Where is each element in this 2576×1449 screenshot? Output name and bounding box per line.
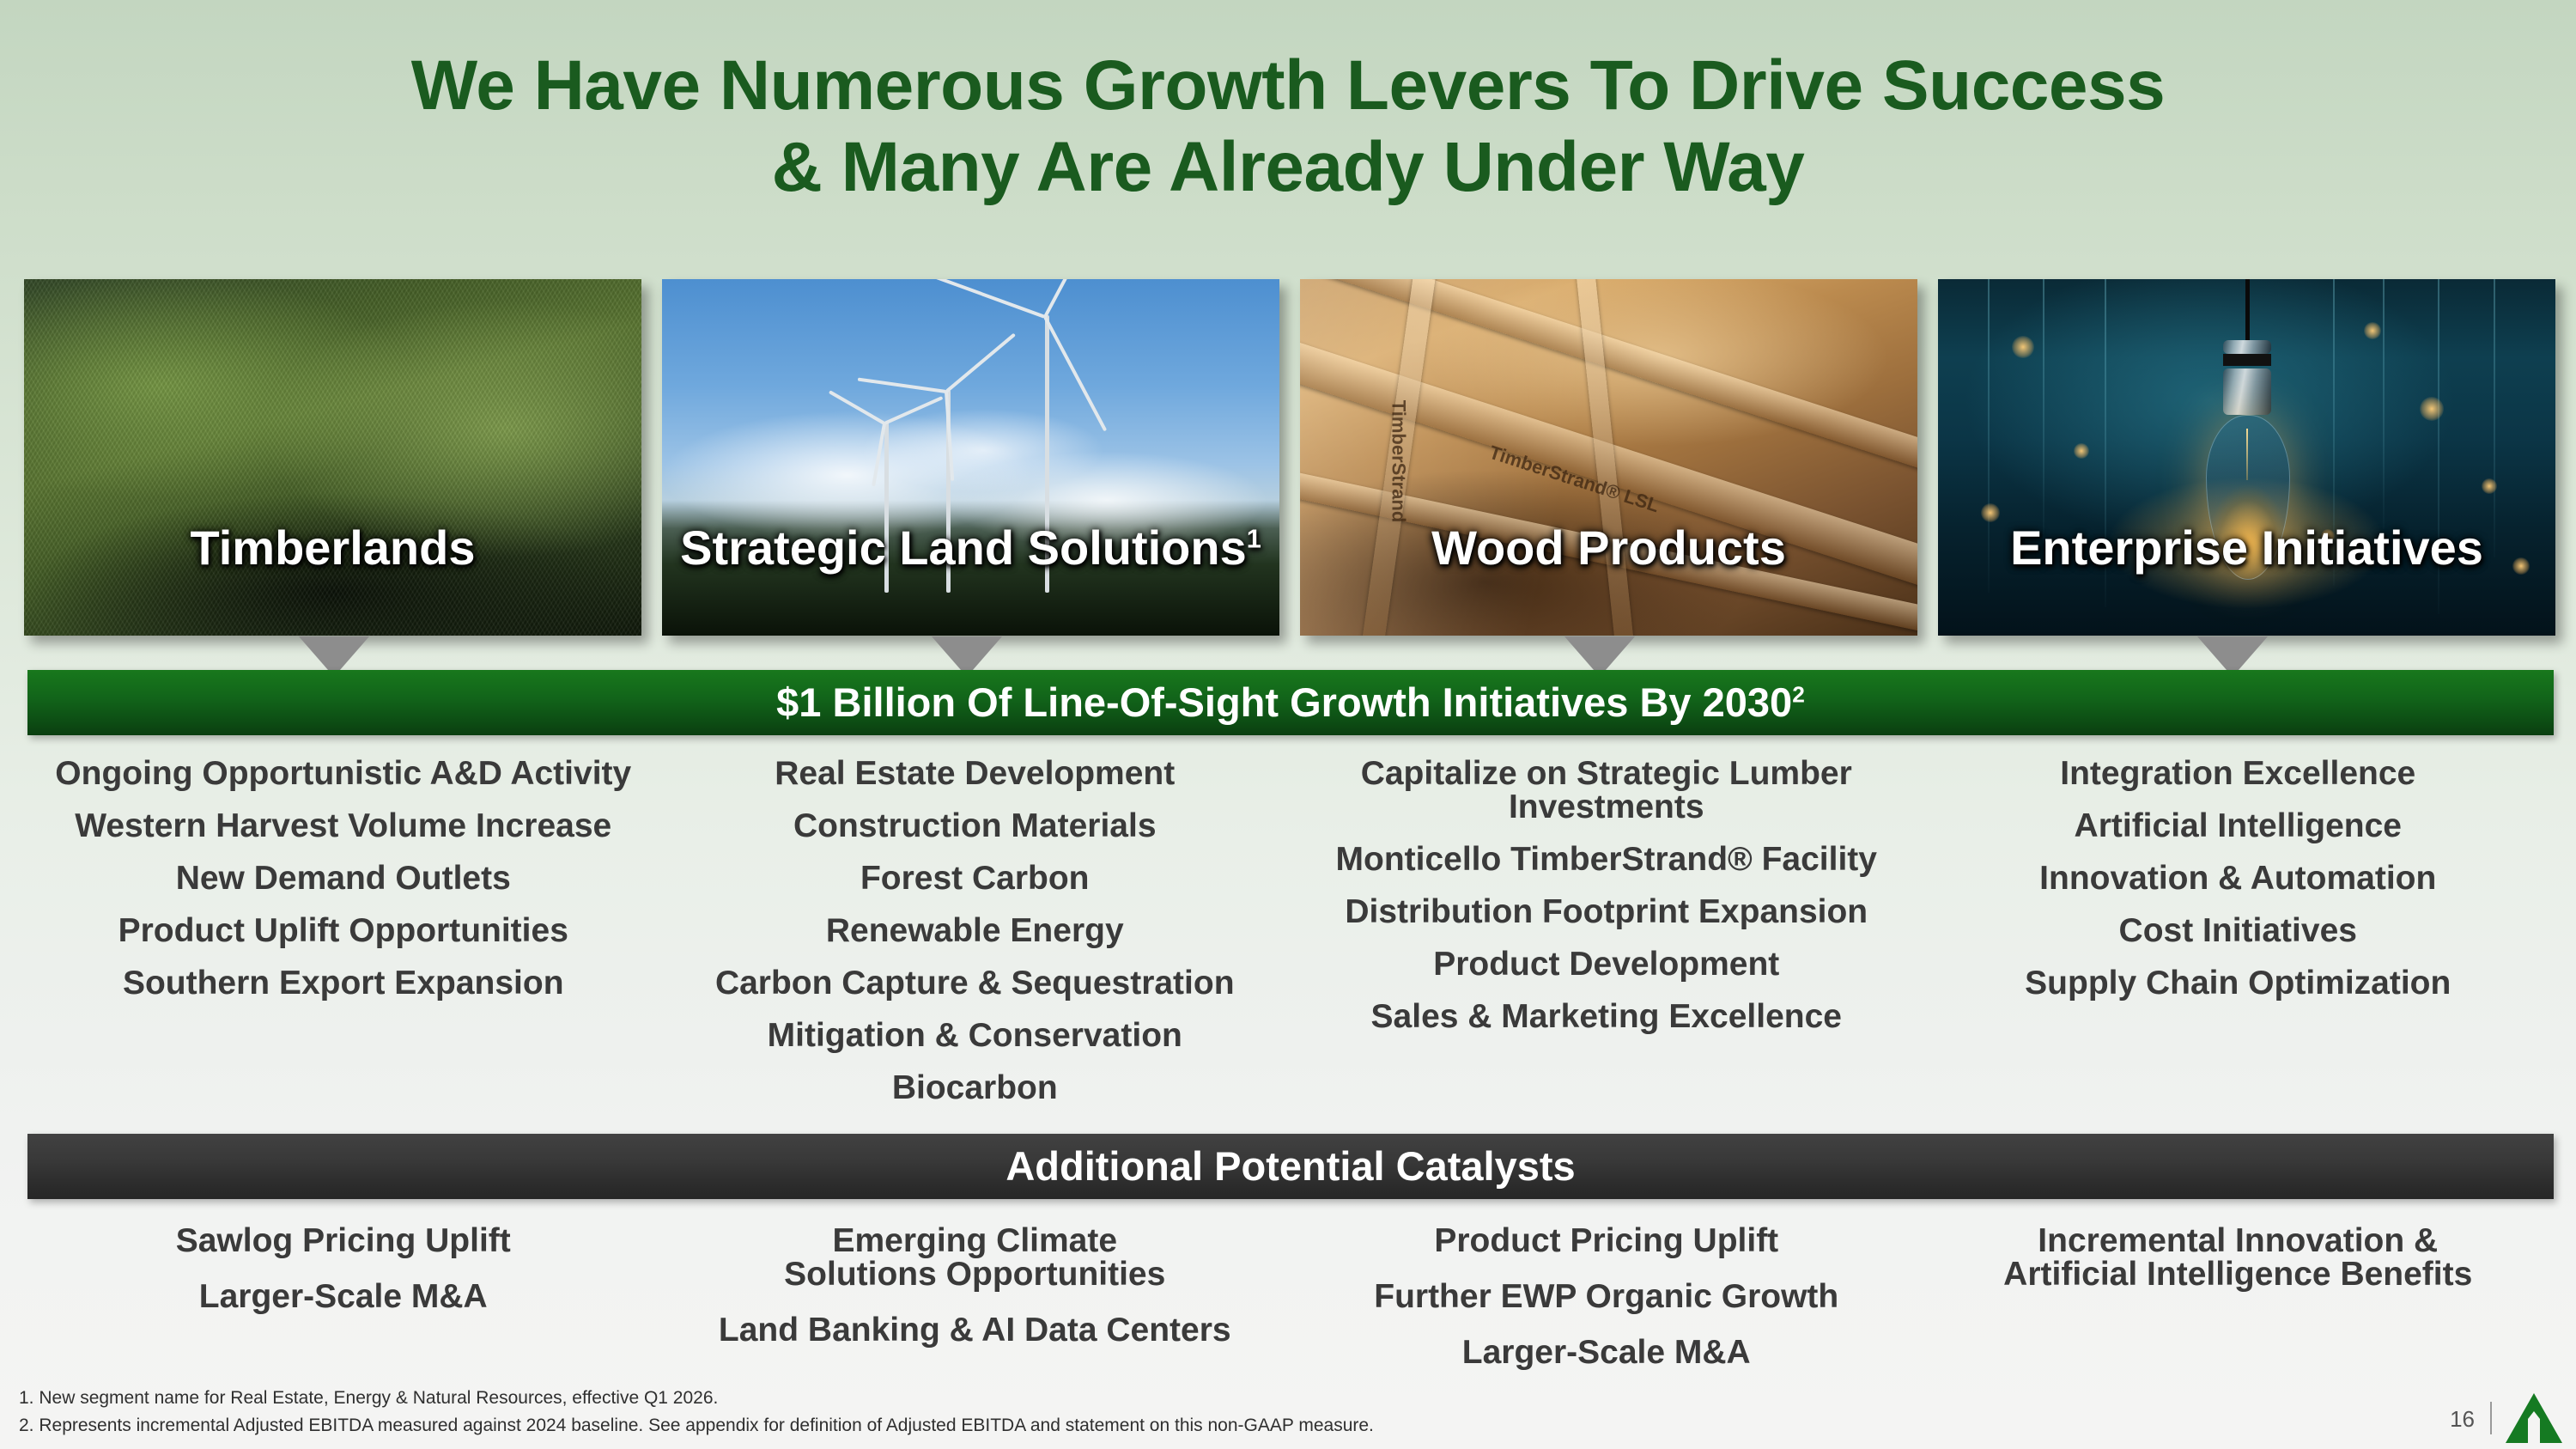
growth-initiatives-banner-text: $1 Billion Of Line-Of-Sight Growth Initi… [776,679,1792,725]
list-item: Product Pricing Uplift [1291,1213,1923,1269]
lightbulb-photo [1938,279,2555,636]
list-item: Distribution Footprint Expansion [1291,886,1923,938]
additional-catalysts-banner: Additional Potential Catalysts [27,1134,2554,1199]
page-title: We Have Numerous Growth Levers To Drive … [0,45,2576,208]
list-item: Artificial Intelligence [1923,800,2555,852]
growth-column-strategic-land-solutions: Real Estate Development Construction Mat… [659,747,1291,1114]
title-line-1: We Have Numerous Growth Levers To Drive … [411,46,2165,125]
presentation-slide: We Have Numerous Growth Levers To Drive … [0,0,2576,1449]
catalysts-column-timberlands: Sawlog Pricing Uplift Larger-Scale M&A [27,1213,659,1380]
catalysts-column-strategic-land-solutions: Emerging Climate Solutions Opportunities… [659,1213,1291,1380]
growth-initiatives-banner: $1 Billion Of Line-Of-Sight Growth Initi… [27,670,2554,735]
list-item: Monticello TimberStrand® Facility [1291,833,1923,886]
list-item: Further EWP Organic Growth [1291,1269,1923,1324]
growth-column-timberlands: Ongoing Opportunistic A&D Activity Weste… [27,747,659,1114]
list-item: Incremental Innovation & [1923,1213,2555,1257]
wind-turbines-photo [662,279,1279,636]
list-item: Carbon Capture & Sequestration [659,957,1291,1009]
list-item: Renewable Energy [659,904,1291,957]
list-item: Ongoing Opportunistic A&D Activity [27,747,659,800]
list-item: Sawlog Pricing Uplift [27,1213,659,1269]
list-item: Emerging Climate [659,1213,1291,1257]
list-item: Capitalize on Strategic Lumber Investmen… [1291,747,1923,833]
page-number: 16 [2450,1406,2475,1433]
growth-column-enterprise-initiatives: Integration Excellence Artificial Intell… [1923,747,2555,1114]
list-item: Larger-Scale M&A [27,1269,659,1324]
growth-column-wood-products: Capitalize on Strategic Lumber Investmen… [1291,747,1923,1114]
segment-card-row: Timberlands Strategic Land Solutions1 [24,279,2555,636]
list-item: Solutions Opportunities [659,1257,1291,1302]
list-item: Larger-Scale M&A [1291,1324,1923,1380]
footnote-2: 2. Represents incremental Adjusted EBITD… [19,1412,1374,1440]
list-item: Cost Initiatives [1923,904,2555,957]
forest-mountains-photo [24,279,641,636]
list-item: Biocarbon [659,1062,1291,1114]
weyerhaeuser-logo-icon [2506,1393,2562,1443]
list-item: Western Harvest Volume Increase [27,800,659,852]
footnote-marker: 2 [1792,681,1805,707]
segment-card-label: Strategic Land Solutions1 [662,520,1279,575]
segment-card-label: Timberlands [24,520,641,575]
segment-card-timberlands[interactable]: Timberlands [24,279,641,636]
footnotes: 1. New segment name for Real Estate, Ene… [19,1385,1374,1440]
list-item: Real Estate Development [659,747,1291,800]
list-item: Southern Export Expansion [27,957,659,1009]
catalysts-column-enterprise-initiatives: Incremental Innovation & Artificial Inte… [1923,1213,2555,1380]
segment-card-label: Wood Products [1300,520,1917,575]
footnote-1: 1. New segment name for Real Estate, Ene… [19,1385,1374,1412]
segment-card-enterprise-initiatives[interactable]: Enterprise Initiatives [1938,279,2555,636]
list-item: Sales & Marketing Excellence [1291,990,1923,1043]
segment-card-label: Enterprise Initiatives [1938,520,2555,575]
lumber-framing-photo: TimberStrand® LSL TimberStrand [1300,279,1917,636]
list-item: Land Banking & AI Data Centers [659,1302,1291,1358]
footer-divider [2490,1402,2492,1434]
additional-catalysts-banner-text: Additional Potential Catalysts [1005,1143,1575,1189]
segment-card-strategic-land-solutions[interactable]: Strategic Land Solutions1 [662,279,1279,636]
segment-card-wood-products[interactable]: TimberStrand® LSL TimberStrand Wood Prod… [1300,279,1917,636]
growth-initiatives-columns: Ongoing Opportunistic A&D Activity Weste… [27,747,2554,1114]
list-item: Supply Chain Optimization [1923,957,2555,1009]
list-item: Construction Materials [659,800,1291,852]
list-item: Artificial Intelligence Benefits [1923,1257,2555,1302]
list-item: Innovation & Automation [1923,852,2555,904]
list-item: Product Uplift Opportunities [27,904,659,957]
list-item: Mitigation & Conservation [659,1009,1291,1062]
footnote-marker: 1 [1247,523,1261,553]
list-item: New Demand Outlets [27,852,659,904]
list-item: Integration Excellence [1923,747,2555,800]
additional-catalysts-columns: Sawlog Pricing Uplift Larger-Scale M&A E… [27,1213,2554,1380]
catalysts-column-wood-products: Product Pricing Uplift Further EWP Organ… [1291,1213,1923,1380]
list-item: Product Development [1291,938,1923,990]
list-item: Forest Carbon [659,852,1291,904]
title-line-2: & Many Are Already Under Way [0,126,2576,208]
